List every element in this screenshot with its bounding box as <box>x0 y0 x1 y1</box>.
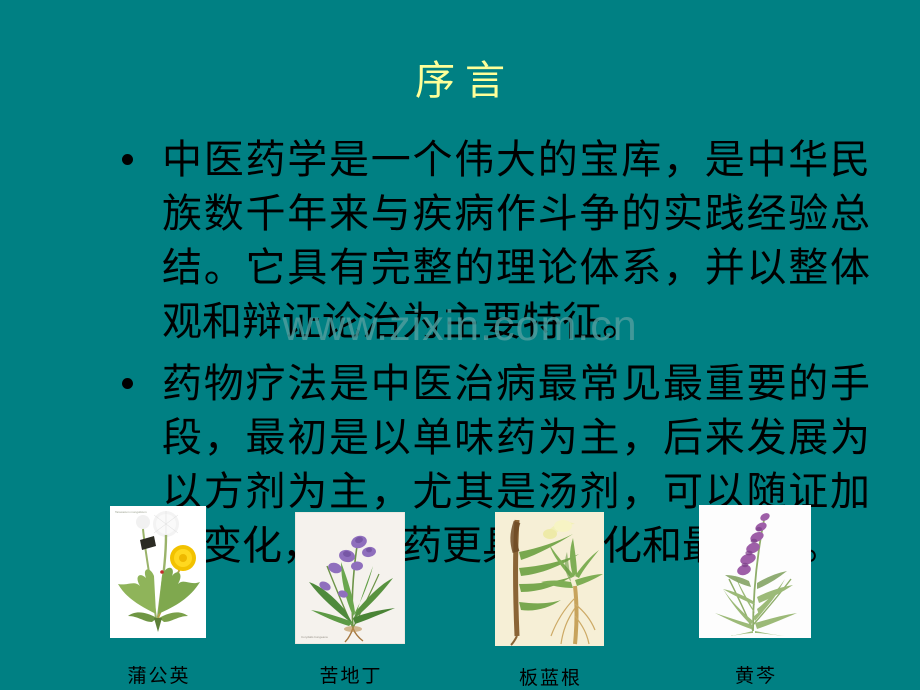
figure-caption: 苦地丁 <box>317 666 382 688</box>
bullet-item: 中医药学是一个伟大的宝库，是中华民族数千年来与疾病作斗争的实践经验总结。它具有完… <box>118 133 870 349</box>
bullet-dot-icon <box>122 154 133 165</box>
figure-item: Taraxacum mongolicum <box>110 506 206 638</box>
svg-text:Corydalis bungeana: Corydalis bungeana <box>301 635 328 639</box>
figure-item: 板蓝根 <box>495 512 604 646</box>
figure-caption: 黄芩 <box>733 666 777 688</box>
scutellaria-baicalensis-botanical-illustration <box>699 505 811 638</box>
presentation-slide: 序言 中医药学是一个伟大的宝库，是中华民族数千年来与疾病作斗争的实践经验总结。它… <box>0 0 920 690</box>
isatis-root-botanical-illustration <box>495 512 604 646</box>
bullet-item-text: 中医药学是一个伟大的宝库，是中华民族数千年来与疾病作斗争的实践经验总结。它具有完… <box>162 133 870 349</box>
bullet-dot-icon <box>122 378 133 389</box>
figure-item: Corydalis bungeana <box>295 512 405 644</box>
dandelion-botanical-illustration: Taraxacum mongolicum <box>110 506 206 638</box>
corydalis-bungeana-botanical-illustration: Corydalis bungeana <box>295 512 405 644</box>
figure-caption: 蒲公英 <box>125 666 190 688</box>
figure-strip: Taraxacum mongolicum <box>0 500 920 690</box>
page-title: 序言 <box>0 57 920 105</box>
svg-text:Taraxacum mongolicum: Taraxacum mongolicum <box>115 510 147 514</box>
figure-caption: 板蓝根 <box>517 668 582 690</box>
figure-item: 黄芩 <box>699 505 811 638</box>
